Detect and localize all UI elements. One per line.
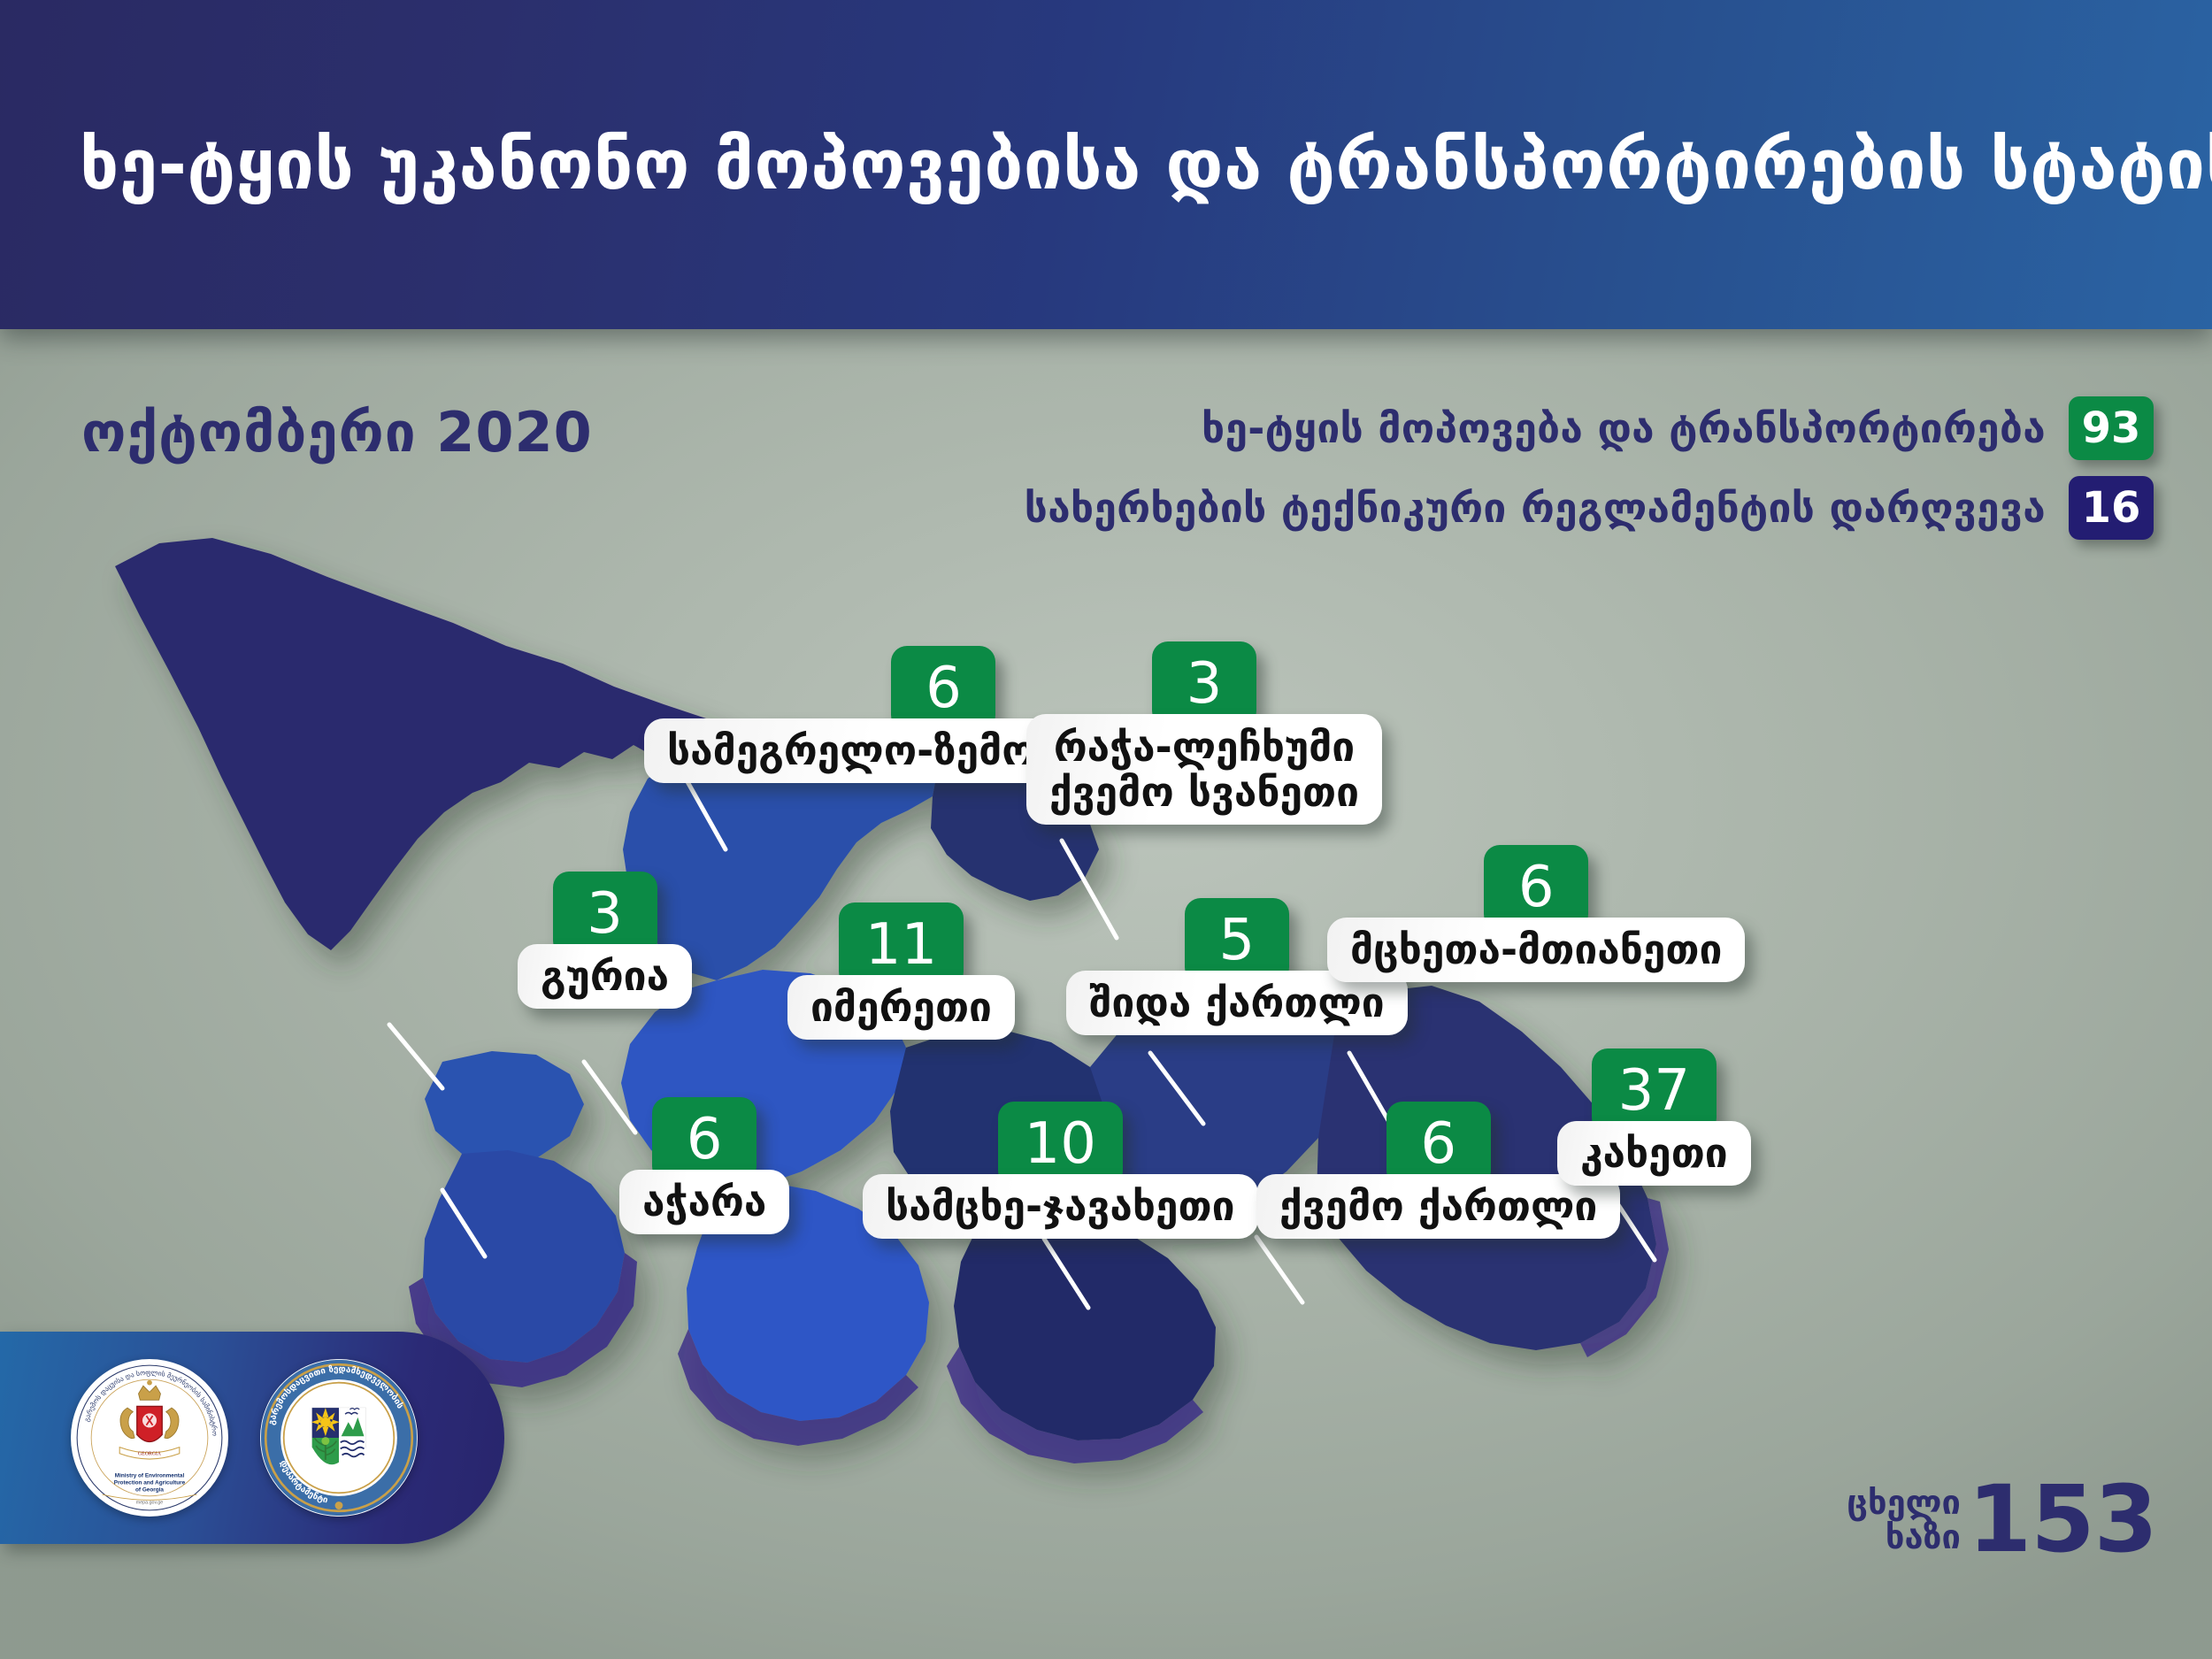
footer-logo-bar: GEORGIA გარემოს დაცვისა და სოფლის მეურნე… [0, 1332, 504, 1544]
legend-value-logging: 93 [2069, 396, 2154, 460]
marker-label: იმერეთი [787, 975, 1015, 1040]
hotline: ცხელი ხაზი 153 [1847, 1479, 2157, 1562]
marker-adjara[interactable]: 6 აჭარა [619, 1097, 789, 1234]
hotline-number: 153 [1968, 1479, 2157, 1562]
marker-racha-lechkhumi[interactable]: 3 რაჭა-ლეჩხუმი ქვემო სვანეთი [1026, 641, 1382, 825]
marker-mtskheta-mtianeti[interactable]: 6 მცხეთა-მთიანეთი [1327, 845, 1745, 982]
marker-samtskhe-javakheti[interactable]: 10 სამცხე-ჯავახეთი [863, 1102, 1258, 1239]
marker-label: აჭარა [619, 1170, 789, 1234]
hotline-word-1: ცხელი [1847, 1486, 1961, 1520]
marker-label: სამცხე-ჯავახეთი [863, 1174, 1258, 1239]
hotline-word-2: ხაზი [1847, 1520, 1961, 1555]
svg-text:mepa.gov.ge: mepa.gov.ge [136, 1501, 163, 1506]
svg-text:Protection and Agriculture: Protection and Agriculture [114, 1480, 186, 1486]
marker-kakheti[interactable]: 37 კახეთი [1557, 1048, 1751, 1186]
page-title: ხე-ტყის უკანონო მოპოვებისა და ტრანსპორტი… [80, 131, 2212, 200]
svg-text:of Georgia: of Georgia [135, 1487, 164, 1494]
marker-label: გურია [518, 944, 692, 1009]
period-label: ოქტომბერი 2020 [81, 400, 593, 465]
svg-text:Ministry of Environmental: Ministry of Environmental [115, 1473, 185, 1479]
legend-item-logging: ხე-ტყის მოპოვება და ტრანსპორტირება 93 [968, 396, 2154, 460]
legend-value-sawmill: 16 [2069, 476, 2154, 540]
marker-imereti[interactable]: 11 იმერეთი [787, 902, 1015, 1040]
environmental-supervision-seal-icon: გარემოსდაცვითი ზედამხედველობის დეპარტამე… [260, 1359, 418, 1517]
hotline-label: ცხელი ხაზი [1847, 1486, 1961, 1555]
legend-label-sawmill: სახერხების ტექნიკური რეგლამენტის დარღვევ… [1025, 484, 2046, 532]
marker-guria[interactable]: 3 გურია [518, 872, 692, 1009]
marker-label: კახეთი [1557, 1121, 1751, 1186]
region-guria [425, 1051, 584, 1164]
header-banner: ხე-ტყის უკანონო მოპოვებისა და ტრანსპორტი… [0, 0, 2212, 329]
ministry-seal-icon: GEORGIA გარემოს დაცვისა და სოფლის მეურნე… [71, 1359, 228, 1517]
marker-label: რაჭა-ლეჩხუმი ქვემო სვანეთი [1026, 714, 1382, 825]
legend-label-logging: ხე-ტყის მოპოვება და ტრანსპორტირება [1202, 404, 2046, 452]
svg-text:GEORGIA: GEORGIA [138, 1452, 162, 1457]
marker-label: მცხეთა-მთიანეთი [1327, 918, 1745, 982]
